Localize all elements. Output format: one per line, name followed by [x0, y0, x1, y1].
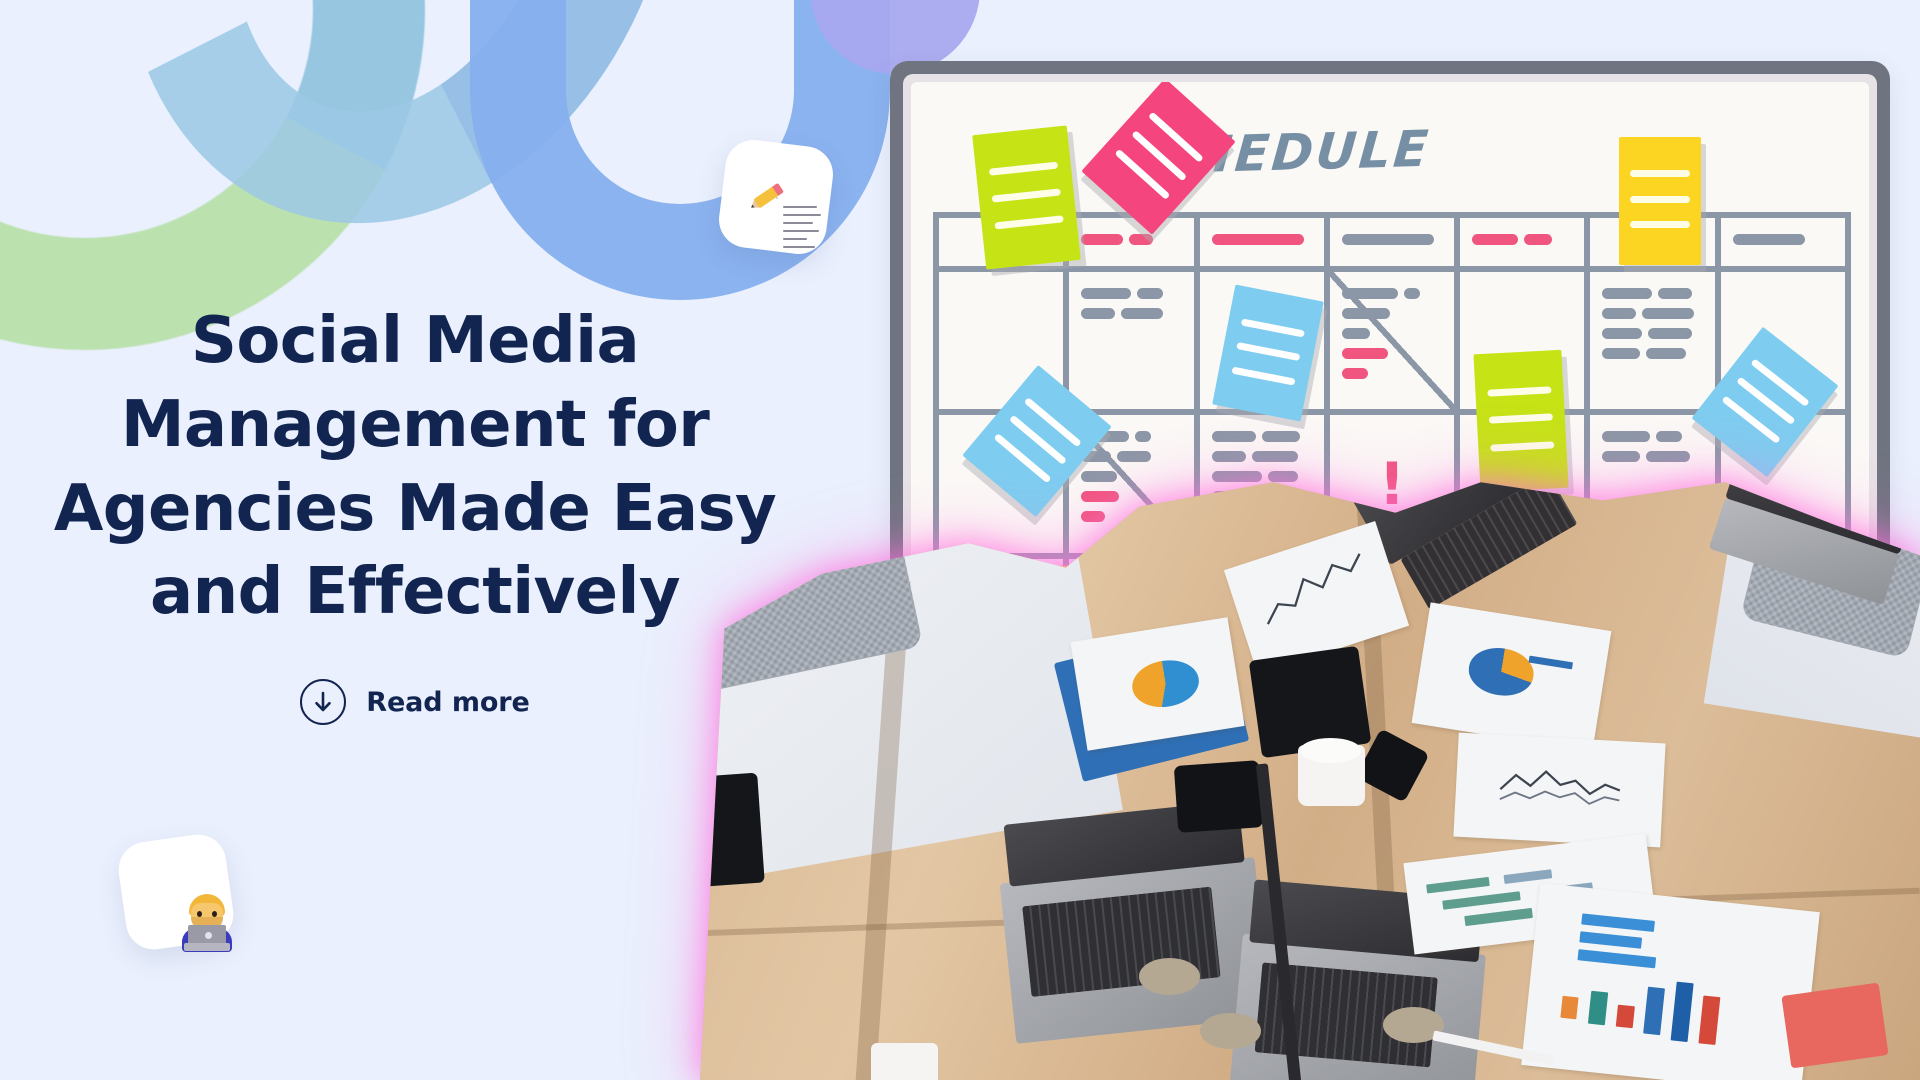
- tablet-device-left: [700, 773, 765, 888]
- schedule-header-cell: [1330, 218, 1460, 272]
- sticky-note-green-1: [972, 125, 1081, 269]
- coffee-cup-dark: [1045, 470, 1112, 522]
- schedule-header-cell: [1200, 218, 1330, 272]
- read-more-button[interactable]: Read more: [300, 679, 529, 725]
- photo-canvas: [700, 470, 1920, 1080]
- schedule-header-cell: [1069, 218, 1199, 272]
- hero-banner: Social Media Management for Agencies Mad…: [0, 0, 1920, 1080]
- chart-paper-bars: [1521, 883, 1819, 1080]
- schedule-cell: [1590, 272, 1720, 415]
- schedule-cell: [1330, 272, 1460, 415]
- technologist-badge: [115, 831, 237, 953]
- sticky-note-yellow-1: [1619, 137, 1701, 265]
- coffee-cup-bottom: [871, 1043, 938, 1080]
- letter-u-blue-shape: [470, 0, 890, 300]
- red-notebook: [1781, 982, 1888, 1068]
- schedule-cell: [1069, 272, 1199, 415]
- team-meeting-photo: [700, 470, 1920, 1080]
- smartphone-1: [1174, 760, 1264, 833]
- schedule-header-cell: [1721, 218, 1851, 272]
- chart-paper-line-2: [1454, 733, 1667, 847]
- laptop-left: [995, 811, 1271, 1044]
- mouse-pad-disc-1: [1139, 958, 1200, 995]
- memo-pencil-badge: [716, 137, 836, 257]
- swoosh-blue-shape: [35, 0, 765, 296]
- coffee-cup-lid: [1300, 738, 1361, 762]
- schedule-header-cell: [1460, 218, 1590, 272]
- read-more-label: Read more: [366, 687, 529, 718]
- arrow-down-circle-icon: [300, 679, 346, 725]
